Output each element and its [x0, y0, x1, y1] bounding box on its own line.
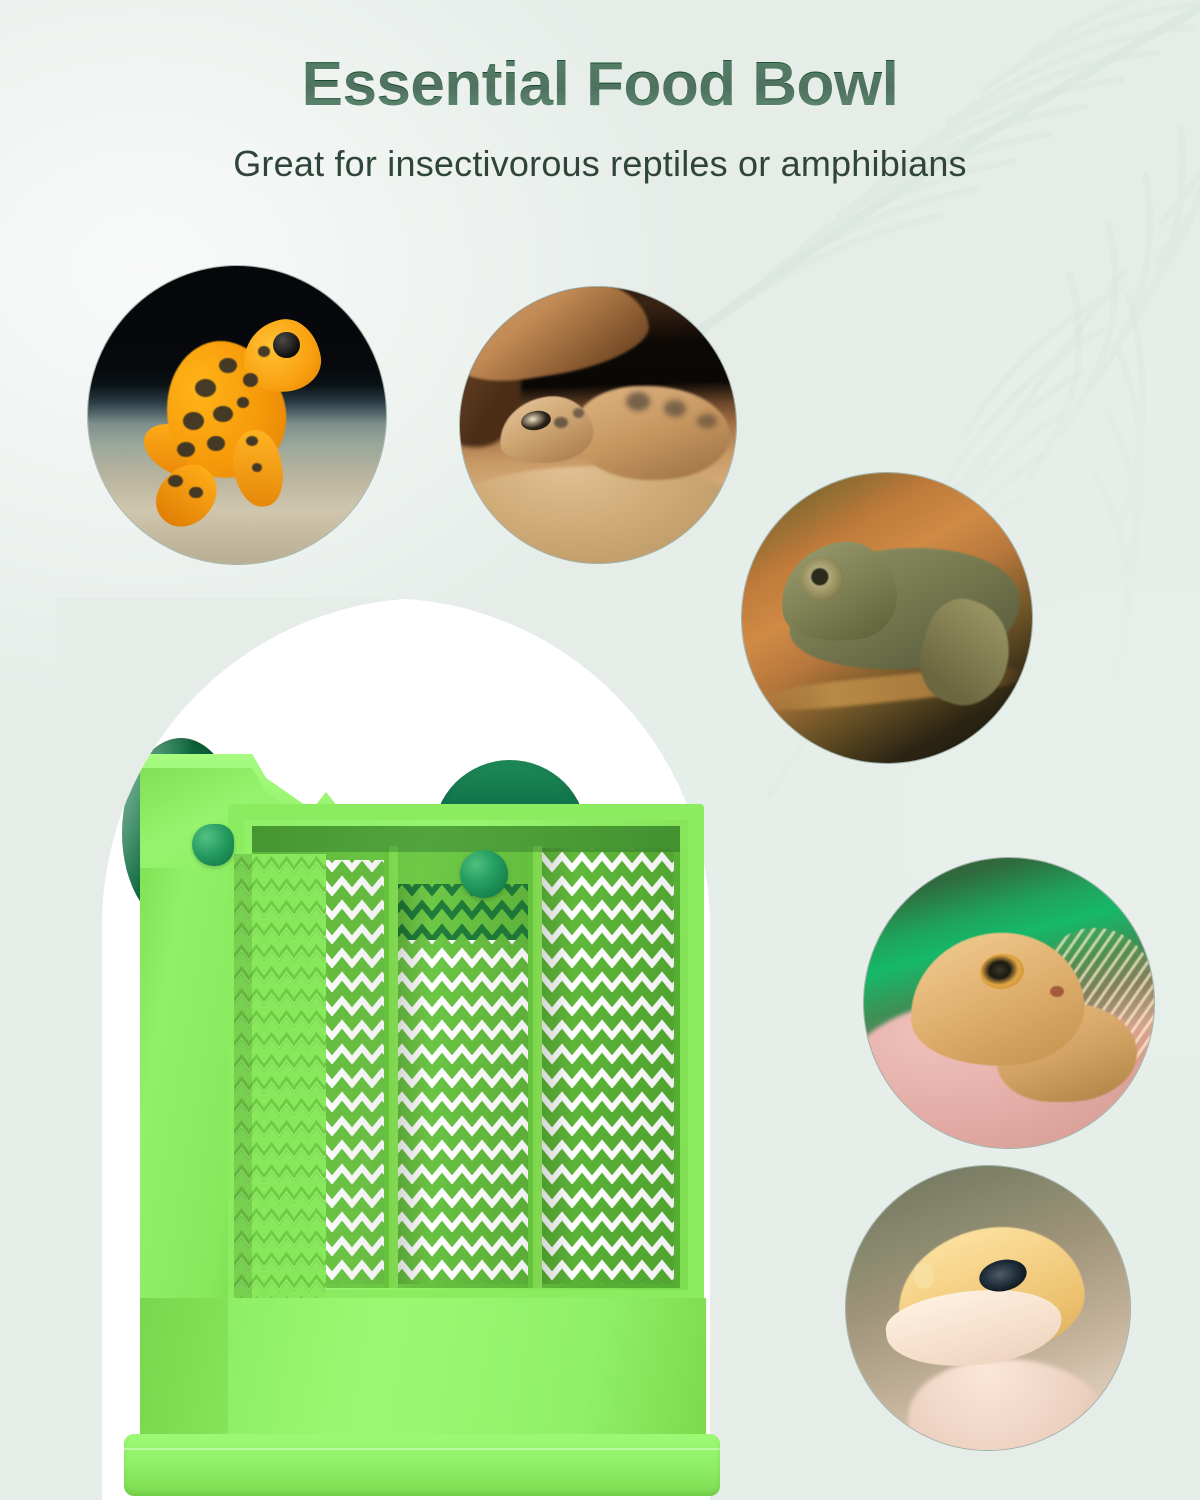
chameleon-eye [800, 557, 844, 601]
frog-eye [273, 332, 300, 359]
leopard-gecko-scene [460, 287, 736, 563]
textured-side-panel [234, 854, 326, 1304]
photo-albino-leopard-gecko [846, 1166, 1130, 1450]
feeding-trough-side [140, 1298, 228, 1438]
frog-scene [88, 266, 386, 564]
photo-leopard-gecko [460, 287, 736, 563]
sand-substrate [460, 466, 736, 563]
product-marketing-page: Essential Food Bowl Great for insectivor… [0, 0, 1200, 1500]
chameleon-scene [742, 473, 1032, 763]
mount-knob-center [460, 850, 508, 898]
rock-slab [460, 287, 654, 390]
mount-knob-left [192, 824, 234, 866]
bearded-dragon-scene [864, 858, 1154, 1148]
base-foot [124, 1434, 720, 1496]
page-title: Essential Food Bowl [0, 52, 1200, 117]
photo-chameleon [742, 473, 1032, 763]
page-subtitle: Great for insectivorous reptiles or amph… [0, 143, 1200, 185]
photo-poison-dart-frog [88, 266, 386, 564]
albino-gecko-scene [846, 1166, 1130, 1450]
gecko-body [576, 386, 731, 480]
product-image-reptile-food-bowl [56, 598, 736, 1500]
header: Essential Food Bowl Great for insectivor… [0, 0, 1200, 185]
photo-bearded-dragon [864, 858, 1154, 1148]
gecko-neck [908, 1359, 1107, 1450]
